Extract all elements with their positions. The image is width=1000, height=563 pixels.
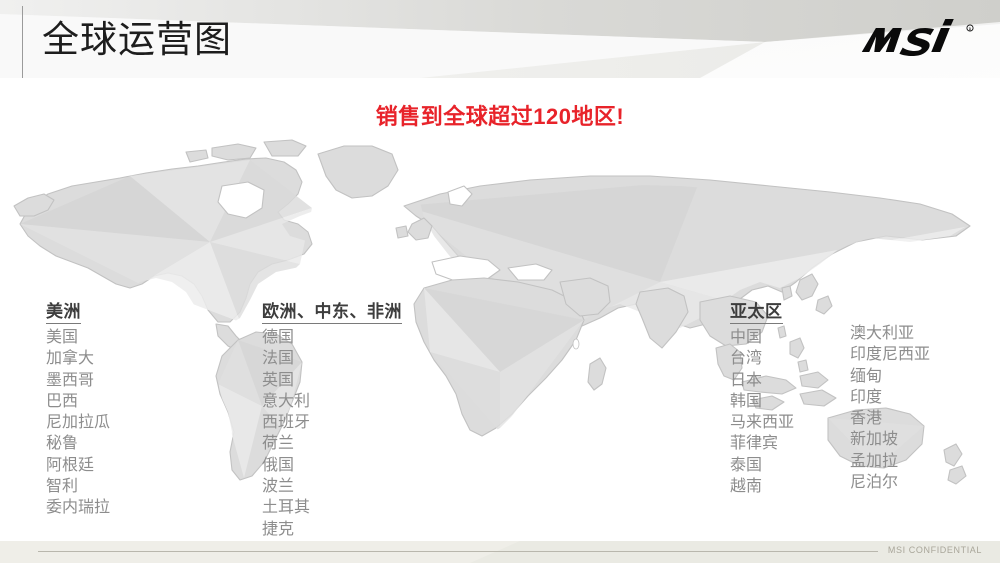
country-item: 澳大利亚 — [850, 323, 930, 344]
region-heading-americas: 美洲 — [46, 297, 81, 324]
country-list-emea: 德国 法国 英国 意大利 西班牙 荷兰 俄国 波兰 土耳其 捷克 — [262, 327, 402, 540]
country-item: 台湾 — [730, 348, 794, 369]
slide: 全球运营图 R 销售到全球超过120地区! — [0, 0, 1000, 563]
country-list-apac-col2: 澳大利亚 印度尼西亚 缅甸 印度 香港 新加坡 孟加拉 尼泊尔 — [850, 323, 930, 493]
msi-logo: R — [858, 18, 978, 62]
country-item: 印度 — [850, 387, 930, 408]
country-item: 阿根廷 — [46, 455, 110, 476]
country-item: 英国 — [262, 370, 402, 391]
country-item: 巴西 — [46, 391, 110, 412]
country-item: 尼加拉瓜 — [46, 412, 110, 433]
region-block-americas: 美洲 美国 加拿大 墨西哥 巴西 尼加拉瓜 秘鲁 阿根廷 智利 委内瑞拉 — [46, 297, 110, 519]
country-item: 泰国 — [730, 455, 794, 476]
country-item: 加拿大 — [46, 348, 110, 369]
confidential-label: MSI CONFIDENTIAL — [888, 545, 982, 555]
region-block-apac-column2: 澳大利亚 印度尼西亚 缅甸 印度 香港 新加坡 孟加拉 尼泊尔 — [850, 323, 930, 493]
slide-footer: MSI CONFIDENTIAL — [0, 541, 1000, 563]
slide-header: 全球运营图 R — [0, 0, 1000, 78]
region-block-emea: 欧洲、中东、非洲 德国 法国 英国 意大利 西班牙 荷兰 俄国 波兰 土耳其 捷… — [262, 297, 402, 540]
footer-accent-graphic — [0, 541, 1000, 563]
region-heading-apac: 亚太区 — [730, 297, 783, 324]
country-item: 捷克 — [262, 519, 402, 540]
footer-divider-line — [38, 551, 878, 552]
country-item: 波兰 — [262, 476, 402, 497]
country-item: 法国 — [262, 348, 402, 369]
country-item: 香港 — [850, 408, 930, 429]
country-item: 德国 — [262, 327, 402, 348]
country-list-apac-col1: 中国 台湾 日本 韩国 马来西亚 菲律宾 泰国 越南 — [730, 327, 794, 497]
country-item: 越南 — [730, 476, 794, 497]
country-item: 俄国 — [262, 455, 402, 476]
country-item: 土耳其 — [262, 497, 402, 518]
country-item: 尼泊尔 — [850, 472, 930, 493]
country-item: 委内瑞拉 — [46, 497, 110, 518]
country-item: 孟加拉 — [850, 451, 930, 472]
header-divider-rule — [22, 6, 23, 78]
country-item: 秘鲁 — [46, 433, 110, 454]
page-title: 全球运营图 — [42, 18, 232, 62]
country-item: 马来西亚 — [730, 412, 794, 433]
country-item: 美国 — [46, 327, 110, 348]
msi-logo-icon: R — [858, 18, 978, 62]
registered-mark-letter: R — [969, 26, 972, 31]
country-item: 日本 — [730, 370, 794, 391]
country-item: 印度尼西亚 — [850, 344, 930, 365]
country-item: 荷兰 — [262, 433, 402, 454]
country-item: 缅甸 — [850, 366, 930, 387]
country-list-americas: 美国 加拿大 墨西哥 巴西 尼加拉瓜 秘鲁 阿根廷 智利 委内瑞拉 — [46, 327, 110, 519]
headline-text: 销售到全球超过120地区! — [0, 99, 1000, 131]
country-item: 智利 — [46, 476, 110, 497]
region-heading-emea: 欧洲、中东、非洲 — [262, 297, 402, 324]
region-block-apac: 亚太区 中国 台湾 日本 韩国 马来西亚 菲律宾 泰国 越南 — [730, 297, 794, 497]
country-item: 中国 — [730, 327, 794, 348]
country-item: 菲律宾 — [730, 433, 794, 454]
country-item: 墨西哥 — [46, 370, 110, 391]
country-item: 西班牙 — [262, 412, 402, 433]
country-item: 意大利 — [262, 391, 402, 412]
country-item: 韩国 — [730, 391, 794, 412]
country-item: 新加坡 — [850, 429, 930, 450]
